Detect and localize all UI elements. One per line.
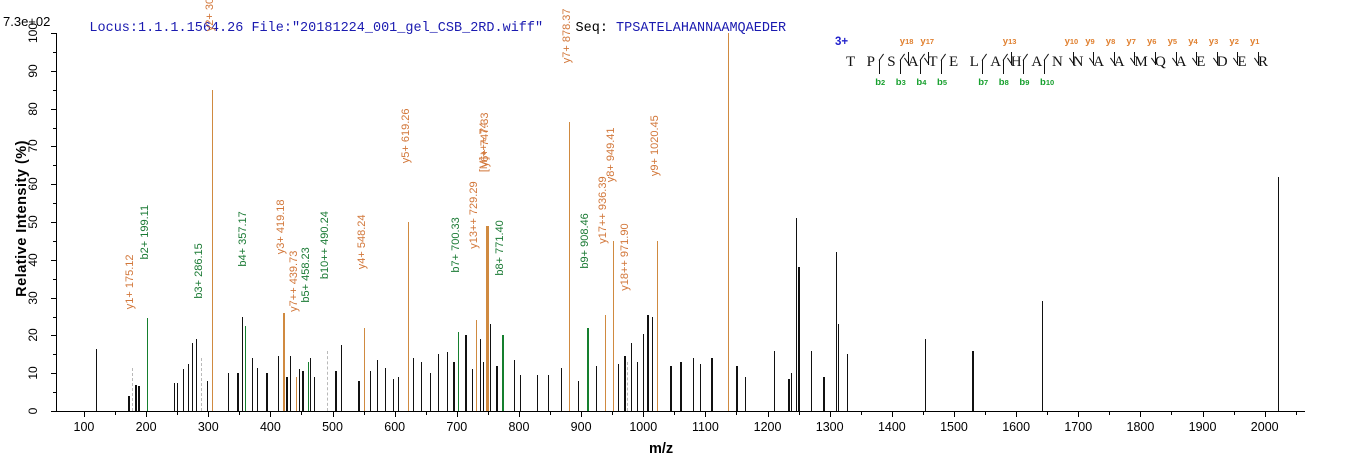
y-axis-tick-label: 10 <box>27 367 39 380</box>
x-axis-tick <box>395 411 396 417</box>
peak-label: y9+ 1020.45 <box>650 115 661 176</box>
spectrum-peak <box>398 377 399 411</box>
x-axis-tick <box>208 411 209 417</box>
spectrum-peak <box>480 339 481 411</box>
spectrum-peak <box>242 317 243 412</box>
x-axis-tick <box>581 411 582 417</box>
x-axis-minor-tick <box>985 411 986 415</box>
annotated-spectrum-peak <box>201 358 202 411</box>
peak-label: y8+ 949.41 <box>606 127 617 182</box>
y-ion-tick <box>1148 52 1157 72</box>
peak-label: y18++ 971.90 <box>620 223 631 290</box>
y-ion-label: y10 <box>1065 36 1079 47</box>
peak-label: y1+ 175.12 <box>125 254 136 309</box>
spectrum-peak <box>135 385 136 411</box>
x-axis-tick <box>333 411 334 417</box>
sequence-residue: E <box>949 54 958 71</box>
spectrum-peak <box>286 377 287 411</box>
x-axis-minor-tick <box>736 411 737 415</box>
spectrum-peak <box>421 362 422 411</box>
x-axis-minor-tick <box>488 411 489 415</box>
spectrum-peak <box>188 364 189 411</box>
peak-label: b8+ 771.40 <box>495 221 506 276</box>
y-axis-tick-label: 60 <box>27 178 39 191</box>
spectrum-peak <box>637 362 638 411</box>
annotated-spectrum-peak <box>728 33 729 411</box>
y-axis-tick <box>51 222 57 223</box>
annotated-spectrum-peak <box>569 122 570 411</box>
sequence-residue: M <box>1134 54 1147 71</box>
spectrum-peak <box>413 358 414 411</box>
spectrum-peak <box>314 377 315 411</box>
annotated-spectrum-peak <box>212 90 213 411</box>
x-axis-minor-tick <box>239 411 240 415</box>
b-ion-tick <box>919 54 928 76</box>
b-ion-label: b8 <box>999 77 1009 88</box>
y-axis-tick <box>51 33 57 34</box>
x-axis-tick <box>1203 411 1204 417</box>
x-axis-tick-label: 1600 <box>1002 420 1030 434</box>
y-ion-tick <box>1107 52 1116 72</box>
x-axis-tick-label: 2000 <box>1251 420 1279 434</box>
x-axis-tick-label: 200 <box>136 420 157 434</box>
y-axis-minor-tick <box>53 203 57 204</box>
sequence-residue: A <box>990 54 1001 71</box>
x-axis-tick-label: 600 <box>384 420 405 434</box>
y-ion-label: y6 <box>1147 36 1156 47</box>
y-axis-tick <box>51 298 57 299</box>
x-axis-minor-tick <box>550 411 551 415</box>
y-axis-minor-tick <box>53 52 57 53</box>
x-axis-tick-label: 1300 <box>816 420 844 434</box>
y-ion-tick <box>1251 52 1260 72</box>
x-axis-minor-tick <box>1109 411 1110 415</box>
spectrum-peak <box>520 375 521 411</box>
precursor-charge-label: 3+ <box>835 36 848 48</box>
spectrum-peak <box>647 315 648 411</box>
y-axis-tick <box>51 335 57 336</box>
spectrum-peak <box>453 362 454 411</box>
y-axis-tick <box>51 71 57 72</box>
y-axis-tick-label: 0 <box>27 408 39 415</box>
b-ion-tick <box>899 54 908 76</box>
y-ion-label: y13 <box>1003 36 1017 47</box>
peak-label: y3+ 419.18 <box>276 199 287 254</box>
spectrum-peak <box>266 373 267 411</box>
spectrum-peak <box>537 375 538 411</box>
spectrum-peak <box>207 381 208 411</box>
x-axis-tick <box>457 411 458 417</box>
x-axis-tick-label: 700 <box>446 420 467 434</box>
spectrum-peak <box>496 366 497 411</box>
spectrum-peak <box>490 324 491 411</box>
x-axis-tick-label: 1400 <box>878 420 906 434</box>
peak-label: b9+ 908.46 <box>580 213 591 268</box>
y-ion-label: y9 <box>1085 36 1094 47</box>
y-ion-tick <box>1230 52 1239 72</box>
y-ion-label: y2 <box>1229 36 1238 47</box>
annotated-spectrum-peak <box>245 326 246 411</box>
spectrum-peak <box>847 354 848 411</box>
annotated-spectrum-peak <box>132 368 133 411</box>
y-ion-label: y8 <box>1106 36 1115 47</box>
peak-label: b7+ 700.33 <box>451 217 462 272</box>
x-axis-tick-label: 100 <box>74 420 95 434</box>
spectrum-peak <box>138 386 139 411</box>
annotated-spectrum-peak <box>627 362 628 411</box>
b-ion-label: b5 <box>937 77 947 88</box>
b-ion-label: b4 <box>916 77 926 88</box>
x-axis-tick <box>643 411 644 417</box>
y-ion-tick <box>1066 52 1075 72</box>
spectrum-peak <box>618 364 619 411</box>
annotated-spectrum-peak <box>283 313 284 411</box>
x-axis-minor-tick <box>612 411 613 415</box>
sequence-residue: L <box>970 54 979 71</box>
x-axis-minor-tick <box>426 411 427 415</box>
spectrum-peak <box>192 343 193 411</box>
spectrum-peak <box>377 360 378 411</box>
x-axis-minor-tick <box>1047 411 1048 415</box>
x-axis-tick <box>1078 411 1079 417</box>
spectrum-peak <box>341 345 342 411</box>
spectrum-peak <box>447 352 448 411</box>
peak-label: y13++ 729.29 <box>469 182 480 249</box>
y-axis-tick-label: 80 <box>27 102 39 115</box>
spectrum-peak <box>823 377 824 411</box>
spectrum-peak <box>643 334 644 411</box>
x-axis-tick <box>1140 411 1141 417</box>
x-axis-minor-tick <box>1171 411 1172 415</box>
sequence-residue: A <box>1031 54 1042 71</box>
spectrum-peak <box>96 349 97 411</box>
y-axis-minor-tick <box>53 90 57 91</box>
x-axis-tick-label: 500 <box>322 420 343 434</box>
x-axis-tick-label: 1100 <box>692 420 719 434</box>
y-axis-tick <box>51 146 57 147</box>
x-axis-minor-tick <box>115 411 116 415</box>
x-axis-tick-label: 1700 <box>1064 420 1092 434</box>
spectrum-peak <box>798 267 799 411</box>
spectrum-peak <box>472 369 473 411</box>
spectrum-peak <box>972 351 973 411</box>
spectrum-peak <box>465 335 466 411</box>
x-axis-tick <box>892 411 893 417</box>
b-ion-label: b9 <box>1019 77 1029 88</box>
x-axis-minor-tick <box>1234 411 1235 415</box>
spectrum-peak <box>791 373 792 411</box>
spectrum-peak <box>257 368 258 411</box>
y-axis-tick-label: 40 <box>27 253 39 266</box>
spectrum-peak <box>548 375 549 411</box>
peak-label: b3+ 286.15 <box>194 243 205 298</box>
x-axis-tick <box>146 411 147 417</box>
x-axis-minor-tick <box>923 411 924 415</box>
spectrum-peak <box>596 366 597 411</box>
x-axis-tick <box>705 411 706 417</box>
y-axis-tick-label: 70 <box>27 140 39 153</box>
x-axis-tick-label: 900 <box>571 420 592 434</box>
annotated-spectrum-peak <box>147 318 148 411</box>
b-ion-label: b7 <box>978 77 988 88</box>
spectrum-peak <box>335 371 336 411</box>
y-ion-tick <box>1127 52 1136 72</box>
spectrum-peak <box>438 354 439 411</box>
annotated-spectrum-peak <box>657 241 658 411</box>
y-ion-tick <box>1169 52 1178 72</box>
y-axis-tick-label: 50 <box>27 215 39 228</box>
spectrum-peak <box>237 373 238 411</box>
spectrum-peak <box>358 381 359 411</box>
fragment-ion-sequence-map: 3+ TPSATELAHANNAAMQAEDERy18y17y13y10y9y8… <box>832 36 1280 94</box>
spectrum-peak <box>1278 177 1279 411</box>
sequence-residue: N <box>1052 54 1063 71</box>
y-axis-tick-label: 100 <box>27 23 39 43</box>
spectrum-peak <box>128 396 129 411</box>
x-axis-tick <box>84 411 85 417</box>
x-axis-tick <box>830 411 831 417</box>
annotated-spectrum-peak <box>458 332 459 411</box>
spectrum-peak <box>788 379 789 411</box>
spectrum-peak <box>1042 301 1043 411</box>
spectrum-peak <box>183 369 184 411</box>
spectrum-peak <box>278 356 279 411</box>
spectrum-peak <box>177 383 178 411</box>
y-axis-tick-label: 90 <box>27 64 39 77</box>
annotated-spectrum-peak <box>408 222 409 411</box>
spectrum-peak <box>290 356 291 411</box>
spectrum-peak <box>228 373 229 411</box>
b-ion-tick <box>1002 54 1011 76</box>
spectrum-peak <box>745 377 746 411</box>
x-axis-minor-tick <box>861 411 862 415</box>
peak-label: y4+ 548.24 <box>357 214 368 269</box>
spectrum-peak <box>370 371 371 411</box>
x-axis-tick-label: 400 <box>260 420 281 434</box>
spectrum-peak <box>561 368 562 411</box>
annotated-spectrum-peak <box>476 320 477 411</box>
sequence-residue: T <box>846 54 855 71</box>
annotated-spectrum-peak <box>613 241 614 411</box>
x-axis-tick-label: 1900 <box>1189 420 1217 434</box>
y-axis-minor-tick <box>53 279 57 280</box>
b-ion-label: b2 <box>875 77 885 88</box>
x-axis-title: m/z <box>649 441 673 457</box>
spectrum-peak <box>310 358 311 411</box>
y-axis-minor-tick <box>53 317 57 318</box>
peak-label: y5+ 619.26 <box>401 109 412 164</box>
spectrum-peak <box>430 373 431 411</box>
annotated-spectrum-peak <box>587 328 588 411</box>
b-ion-tick <box>940 54 949 76</box>
spectrum-peak <box>385 368 386 411</box>
peak-label: b5+ 458.23 <box>301 247 312 302</box>
spectrum-peak <box>302 371 303 411</box>
y-ion-label: y1 <box>1250 36 1259 47</box>
spectrum-peak <box>299 369 300 411</box>
y-ion-label: y3 <box>1209 36 1218 47</box>
spectrum-peak <box>838 324 839 411</box>
b-ion-tick <box>1022 54 1031 76</box>
spectrum-peak <box>393 379 394 411</box>
x-axis-tick-label: 1200 <box>754 420 782 434</box>
y-ion-tick <box>1189 52 1198 72</box>
spectrum-peak <box>925 339 926 411</box>
peak-label: b2+ 199.11 <box>140 205 151 260</box>
x-axis-tick <box>1265 411 1266 417</box>
x-axis-minor-tick <box>364 411 365 415</box>
x-axis-tick-label: 1800 <box>1127 420 1155 434</box>
spectrum-peak <box>483 362 484 411</box>
peak-label: y7++ 439.73 <box>289 251 300 312</box>
x-axis-line: 1002003004005006007008009001000110012001… <box>56 411 1305 412</box>
spectrum-peak <box>514 360 515 411</box>
spectrum-peak <box>578 381 579 411</box>
annotated-spectrum-peak <box>364 328 365 411</box>
y-ion-label: y7 <box>1126 36 1135 47</box>
y-ion-label: y4 <box>1188 36 1197 47</box>
peak-label: y17++ 936.39 <box>598 176 609 243</box>
y-axis-tick <box>51 411 57 412</box>
y-axis-minor-tick <box>53 165 57 166</box>
y-axis-minor-tick <box>53 354 57 355</box>
peak-label: y6+ 747.33 <box>480 112 491 167</box>
x-axis-minor-tick <box>301 411 302 415</box>
b-ion-label: b10 <box>1040 77 1054 88</box>
x-axis-tick <box>1016 411 1017 417</box>
annotated-spectrum-peak <box>502 335 503 411</box>
spectrum-peak <box>700 364 701 411</box>
spectrum-peak <box>693 358 694 411</box>
x-axis-minor-tick <box>1296 411 1297 415</box>
y-ion-tick <box>1210 52 1219 72</box>
x-axis-minor-tick <box>177 411 178 415</box>
spectrum-peak <box>252 358 253 411</box>
y-ion-label: y17 <box>920 36 934 47</box>
spectrum-peak <box>624 356 625 411</box>
y-axis-tick <box>51 109 57 110</box>
y-ion-tick <box>1086 52 1095 72</box>
x-axis-tick <box>768 411 769 417</box>
b-ion-tick <box>1043 54 1052 76</box>
peak-label: b4+ 357.17 <box>238 211 249 266</box>
x-axis-minor-tick <box>674 411 675 415</box>
x-axis-minor-tick <box>799 411 800 415</box>
spectrum-peak <box>196 339 197 411</box>
annotated-spectrum-peak <box>308 362 309 411</box>
spectrum-peak <box>736 366 737 411</box>
y-axis-tick-label: 20 <box>27 329 39 342</box>
y-axis-tick <box>51 373 57 374</box>
y-axis-tick <box>51 260 57 261</box>
y-axis-tick <box>51 184 57 185</box>
spectrum-peak <box>652 317 653 412</box>
y-ion-label: y18 <box>900 36 914 47</box>
peak-label: b10++ 490.24 <box>320 211 331 279</box>
y-axis-minor-tick <box>53 241 57 242</box>
x-axis-tick-label: 800 <box>509 420 530 434</box>
y-axis-minor-tick <box>53 392 57 393</box>
peak-label: y2+ 304.16 <box>205 0 216 31</box>
x-axis-tick <box>270 411 271 417</box>
x-axis-tick <box>519 411 520 417</box>
annotated-spectrum-peak <box>605 315 606 411</box>
spectrum-peak <box>774 351 775 411</box>
sequence-residue: P <box>867 54 875 71</box>
y-axis-tick-label: 30 <box>27 291 39 304</box>
annotated-spectrum-peak <box>296 377 297 411</box>
x-axis-tick-label: 1000 <box>629 420 657 434</box>
spectrum-peak <box>680 362 681 411</box>
x-axis-tick-label: 1500 <box>940 420 968 434</box>
x-axis-tick <box>954 411 955 417</box>
spectrum-peak <box>796 218 797 411</box>
spectrum-peak <box>670 366 671 411</box>
b-ion-tick <box>878 54 887 76</box>
spectrum-peak <box>811 351 812 411</box>
b-ion-label: b3 <box>896 77 906 88</box>
spectrum-peak <box>836 252 837 411</box>
annotated-spectrum-peak <box>487 226 488 411</box>
spectrum-peak <box>711 358 712 411</box>
b-ion-tick <box>981 54 990 76</box>
spectrum-peak <box>631 343 632 411</box>
annotated-spectrum-peak <box>327 351 328 411</box>
y-ion-label: y5 <box>1168 36 1177 47</box>
y-axis-minor-tick <box>53 128 57 129</box>
peak-label: y7+ 878.37 <box>562 8 573 63</box>
spectrum-peak <box>174 383 175 411</box>
x-axis-tick-label: 300 <box>198 420 219 434</box>
sequence-residue: S <box>887 54 895 71</box>
